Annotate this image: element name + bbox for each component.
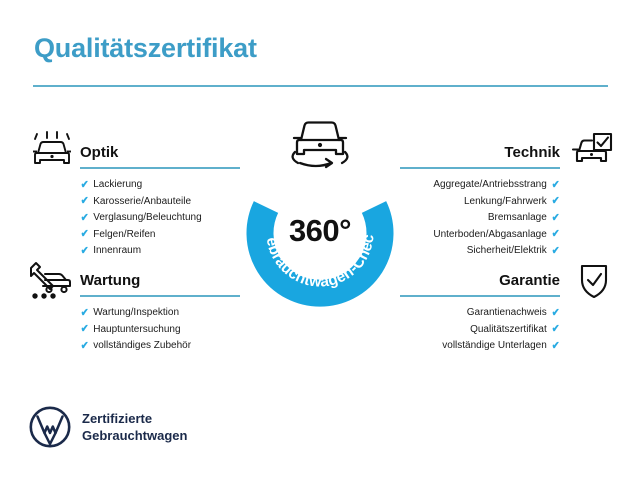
certificate-page: Qualitätszertifikat [0, 0, 640, 480]
section-optik-divider [80, 167, 240, 169]
section-technik-list: Aggregate/Antriebsstrang✔ Lenkung/Fahrwe… [400, 177, 560, 260]
section-garantie-divider [400, 295, 560, 297]
check-icon: ✔ [551, 308, 559, 319]
check-icon: ✔ [81, 246, 89, 257]
check-icon: ✔ [81, 180, 89, 191]
wrench-car-icon [26, 261, 72, 301]
list-item: Garantienachweis✔ [400, 305, 560, 322]
list-item-label: Qualitätszertifikat [470, 322, 547, 339]
section-optik-head: Optik [80, 143, 240, 169]
list-item-label: Karosserie/Anbauteile [93, 194, 191, 211]
list-item: Qualitätszertifikat✔ [400, 322, 560, 339]
section-garantie-head: Garantie [400, 271, 560, 297]
list-item: Lenkung/Fahrwerk✔ [400, 194, 560, 211]
check-icon: ✔ [81, 324, 89, 335]
list-item: ✔Felgen/Reifen [80, 227, 240, 244]
list-item-label: Unterboden/Abgasanlage [433, 227, 546, 244]
list-item: Sicherheit/Elektrik✔ [400, 243, 560, 260]
vw-brand-text: Zertifizierte Gebrauchtwagen [82, 410, 187, 444]
list-item: vollständige Unterlagen✔ [400, 338, 560, 355]
list-item-label: Aggregate/Antriebsstrang [433, 177, 546, 194]
list-item-label: Wartung/Inspektion [93, 305, 179, 322]
check-icon: ✔ [551, 341, 559, 352]
car-checkbox-icon [568, 131, 614, 171]
section-technik-divider [400, 167, 560, 169]
list-item-label: vollständige Unterlagen [442, 338, 547, 355]
check-icon: ✔ [81, 213, 89, 224]
list-item: ✔Lackierung [80, 177, 240, 194]
list-item: ✔Hauptuntersuchung [80, 322, 240, 339]
car-shine-icon [26, 131, 72, 171]
check-icon: ✔ [551, 229, 559, 240]
vw-brand-line-2: Gebrauchtwagen [82, 427, 187, 444]
list-item-label: Bremsanlage [488, 210, 547, 227]
section-wartung-head: Wartung [80, 271, 240, 297]
section-garantie: Garantie Garantienachweis✔ Qualitätszert… [400, 271, 560, 355]
list-item-label: Garantienachweis [467, 305, 547, 322]
section-technik-head: Technik [400, 143, 560, 169]
vw-logo-icon [29, 406, 71, 448]
title-divider [33, 85, 608, 87]
shield-check-icon [572, 261, 618, 301]
section-wartung-divider [80, 295, 240, 297]
section-optik-title: Optik [80, 143, 240, 163]
check-icon: ✔ [551, 180, 559, 191]
list-item-label: Verglasung/Beleuchtung [93, 210, 201, 227]
section-technik: Technik Aggregate/Antriebsstrang✔ Lenkun… [400, 143, 560, 260]
list-item: ✔Wartung/Inspektion [80, 305, 240, 322]
section-garantie-title: Garantie [400, 271, 560, 291]
list-item-label: Felgen/Reifen [93, 227, 155, 244]
vw-brand-line-1: Zertifizierte [82, 410, 187, 427]
page-title: Qualitätszertifikat [34, 33, 257, 64]
check-icon: ✔ [81, 229, 89, 240]
list-item-label: Sicherheit/Elektrik [467, 243, 547, 260]
check-icon: ✔ [551, 196, 559, 207]
badge-360-check: Gebrauchtwagen-Check 360° [239, 152, 401, 314]
list-item-label: Innenraum [93, 243, 141, 260]
section-technik-title: Technik [400, 143, 560, 163]
list-item: ✔vollständiges Zubehör [80, 338, 240, 355]
section-garantie-list: Garantienachweis✔ Qualitätszertifikat✔ v… [400, 305, 560, 355]
list-item: ✔Innenraum [80, 243, 240, 260]
check-icon: ✔ [81, 196, 89, 207]
list-item-label: Lenkung/Fahrwerk [464, 194, 547, 211]
section-wartung: Wartung ✔Wartung/Inspektion ✔Hauptunters… [80, 271, 240, 355]
list-item: ✔Karosserie/Anbauteile [80, 194, 240, 211]
check-icon: ✔ [551, 213, 559, 224]
check-icon: ✔ [81, 341, 89, 352]
check-icon: ✔ [551, 324, 559, 335]
list-item: Bremsanlage✔ [400, 210, 560, 227]
list-item-label: vollständiges Zubehör [93, 338, 191, 355]
section-optik: Optik ✔Lackierung ✔Karosserie/Anbauteile… [80, 143, 240, 260]
section-optik-list: ✔Lackierung ✔Karosserie/Anbauteile ✔Verg… [80, 177, 240, 260]
list-item-label: Lackierung [93, 177, 142, 194]
list-item: Unterboden/Abgasanlage✔ [400, 227, 560, 244]
list-item: Aggregate/Antriebsstrang✔ [400, 177, 560, 194]
check-icon: ✔ [551, 246, 559, 257]
badge-degrees: 360° [239, 213, 401, 249]
list-item-label: Hauptuntersuchung [93, 322, 180, 339]
section-wartung-title: Wartung [80, 271, 240, 291]
section-wartung-list: ✔Wartung/Inspektion ✔Hauptuntersuchung ✔… [80, 305, 240, 355]
check-icon: ✔ [81, 308, 89, 319]
list-item: ✔Verglasung/Beleuchtung [80, 210, 240, 227]
